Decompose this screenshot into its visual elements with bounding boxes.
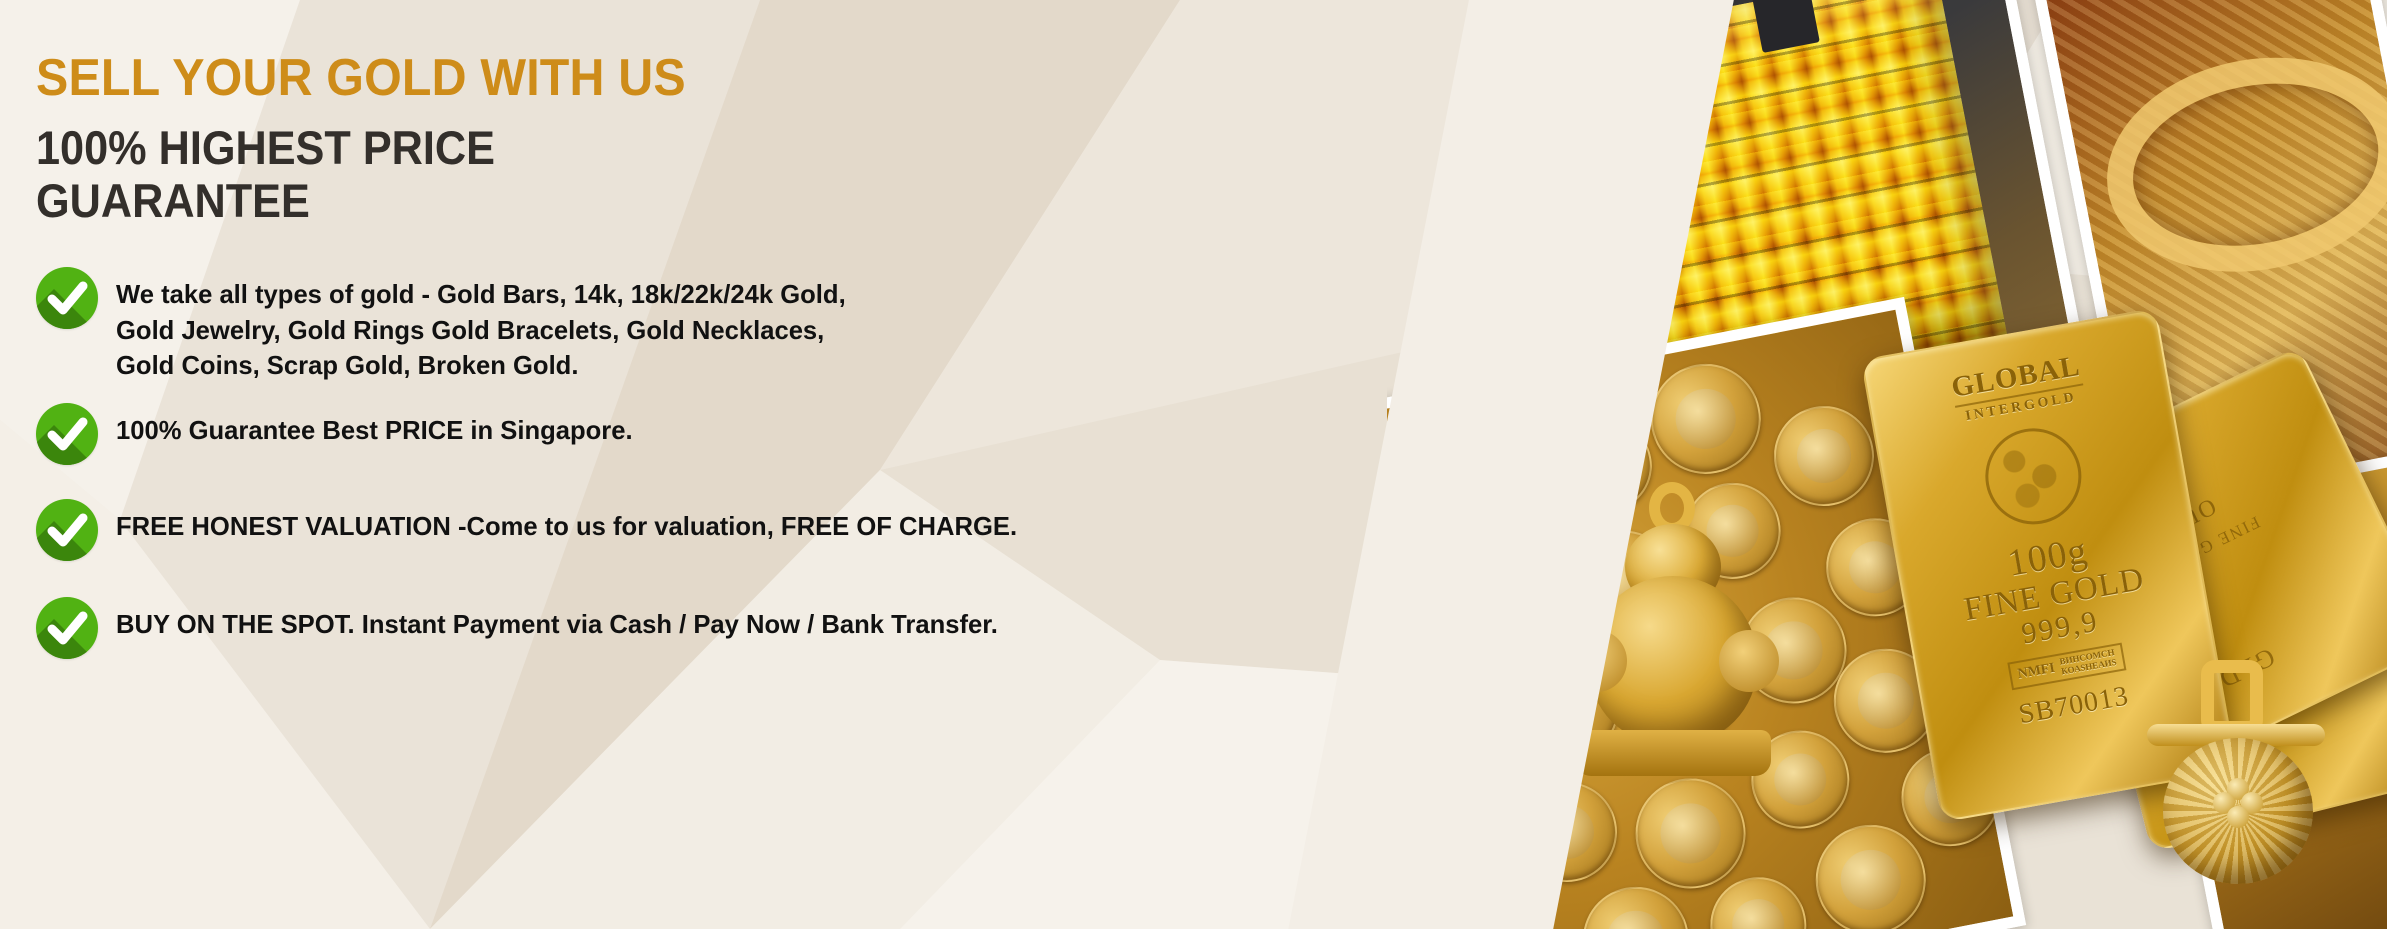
- list-item-label: We take all types of gold - Gold Bars, 1…: [116, 273, 846, 383]
- check-circle-icon: [36, 403, 98, 465]
- subtitle: 100% HIGHEST PRICE GUARANTEE: [36, 122, 625, 227]
- list-item-label: BUY ON THE SPOT. Instant Payment via Cas…: [116, 603, 998, 642]
- page-title: SELL YOUR GOLD WITH US: [36, 52, 1360, 104]
- list-item-label: FREE HONEST VALUATION -Come to us for va…: [116, 505, 1017, 544]
- check-circle-icon: [36, 267, 98, 329]
- subtitle-line-1: 100% HIGHEST PRICE: [36, 121, 495, 174]
- list-item: BUY ON THE SPOT. Instant Payment via Cas…: [36, 603, 1460, 665]
- globe-icon: [1978, 421, 2089, 532]
- benefits-list: We take all types of gold - Gold Bars, 1…: [36, 273, 1460, 695]
- subtitle-line-2: GUARANTEE: [36, 175, 625, 228]
- check-circle-icon: [36, 499, 98, 561]
- list-item: We take all types of gold - Gold Bars, 1…: [36, 273, 1460, 383]
- gold-buying-promo-banner: SELL YOUR GOLD WITH US 100% HIGHEST PRIC…: [0, 0, 2387, 929]
- list-item-label: 100% Guarantee Best PRICE in Singapore.: [116, 409, 633, 448]
- gold-bar-serial: SB70013: [2016, 680, 2131, 731]
- check-circle-icon: [36, 597, 98, 659]
- list-item: 100% Guarantee Best PRICE in Singapore.: [36, 409, 1460, 471]
- gold-lock-pendant: [2127, 660, 2357, 910]
- promo-content: SELL YOUR GOLD WITH US 100% HIGHEST PRIC…: [0, 0, 1460, 929]
- list-item: FREE HONEST VALUATION -Come to us for va…: [36, 505, 1460, 567]
- assayer-code: NMFI: [2017, 661, 2057, 683]
